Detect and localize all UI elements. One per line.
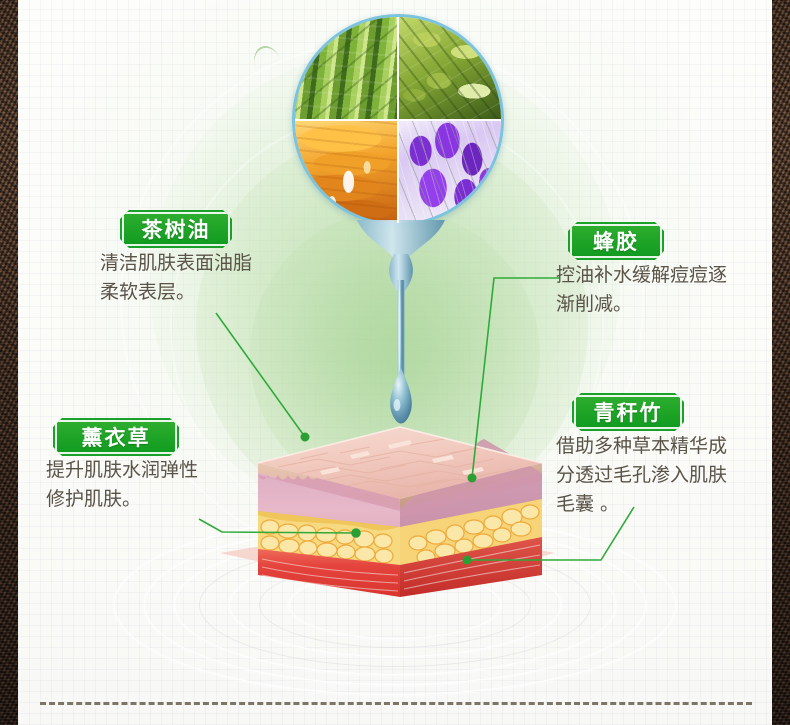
essence-drip [341,218,461,443]
bamboo-photo-quadrant [295,17,398,120]
description-green-bamboo: 借助多种草本精华成 分透过毛孔渗入肌肤 毛囊 。 [556,432,788,519]
collage-circle-frame [292,14,504,226]
badge-green-bamboo[interactable]: 青秆竹 [572,393,684,431]
right-texture-rail [772,0,790,725]
badge-propolis[interactable]: 蜂胶 [568,222,664,260]
tea-tree-photo-quadrant [398,17,501,120]
ingredient-collage-circle [292,14,504,226]
description-tea-tree-oil: 清洁肌肤表面油脂 柔软表层。 [100,249,330,307]
description-lavender: 提升肌肤水润弹性 修护肌肤。 [46,456,296,514]
description-propolis: 控油补水缓解痘痘逐 渐削减。 [556,261,781,319]
propolis-photo-quadrant [295,120,398,223]
collage-divider-horizontal [295,119,501,121]
bottom-dashed-divider [40,702,752,705]
badge-lavender[interactable]: 薰衣草 [53,418,179,456]
lavender-photo-quadrant [398,120,501,223]
left-texture-rail [0,0,18,725]
poster-canvas: 茶树油 清洁肌肤表面油脂 柔软表层。 蜂胶 控油补水缓解痘痘逐 渐削减。 薰衣草… [0,0,790,725]
badge-tea-tree-oil[interactable]: 茶树油 [120,210,232,248]
